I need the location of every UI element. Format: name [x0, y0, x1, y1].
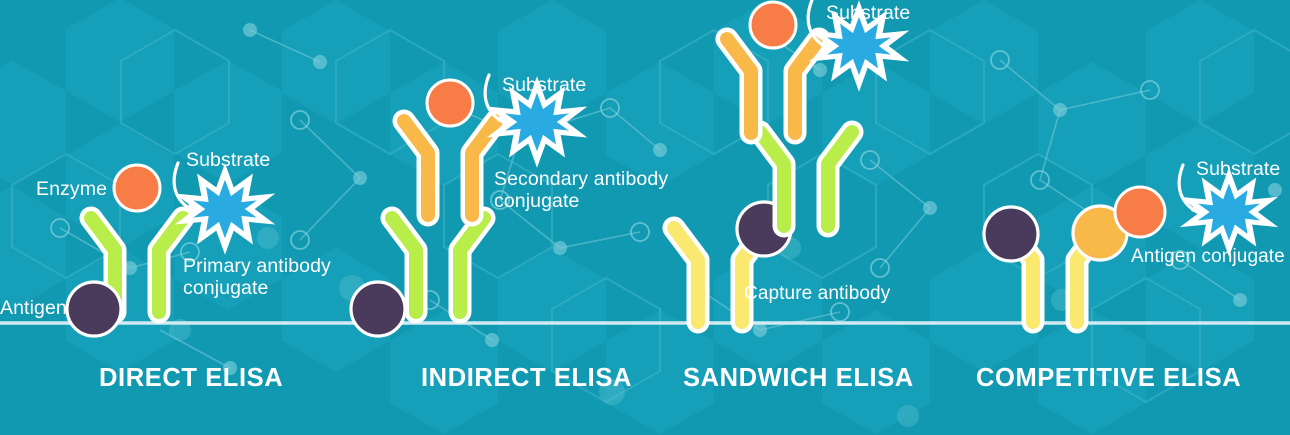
detection-antibody	[760, 132, 852, 226]
substrate-label: Substrate	[1196, 158, 1280, 180]
antigen-circle	[351, 282, 405, 336]
substrate-starburst	[188, 175, 262, 244]
secondary-antibody-conjugate-label: Secondary antibody conjugate	[494, 168, 668, 212]
substrate-label: Substrate	[826, 2, 910, 24]
substrate-starburst	[1193, 178, 1265, 245]
panel-title-sandwich: SANDWICH ELISA	[683, 364, 914, 393]
antigen-circle	[67, 282, 121, 336]
secondary-antibody-conjugate	[727, 39, 819, 133]
antigen-label: Antigen	[0, 297, 67, 319]
enzyme-circle	[427, 80, 473, 126]
panel-sandwich-figure	[674, 0, 896, 322]
enzyme-circle	[1115, 187, 1165, 237]
capture-antibody-label: Capture antibody	[744, 283, 890, 305]
antigen-circle	[984, 207, 1038, 261]
primary-antibody-conjugate-label: Primary antibody conjugate	[183, 255, 331, 299]
panel-title-direct: DIRECT ELISA	[99, 364, 283, 393]
enzyme-circle	[750, 2, 796, 48]
panel-title-competitive: COMPETITIVE ELISA	[976, 364, 1241, 393]
secondary-antibody-conjugate	[404, 121, 496, 215]
panel-competitive-figure	[984, 165, 1265, 322]
elisa-diagram: Enzyme Substrate Primary antibody conjug…	[0, 0, 1290, 435]
substrate-label: Substrate	[186, 149, 270, 171]
enzyme-label: Enzyme	[36, 178, 107, 200]
antigen-conjugate-label: Antigen conjugate	[1131, 246, 1285, 268]
substrate-label: Substrate	[502, 74, 586, 96]
primary-antibody	[392, 218, 484, 312]
panel-title-indirect: INDIRECT ELISA	[421, 364, 632, 393]
substrate-starburst	[500, 88, 574, 157]
enzyme-circle	[114, 165, 160, 211]
